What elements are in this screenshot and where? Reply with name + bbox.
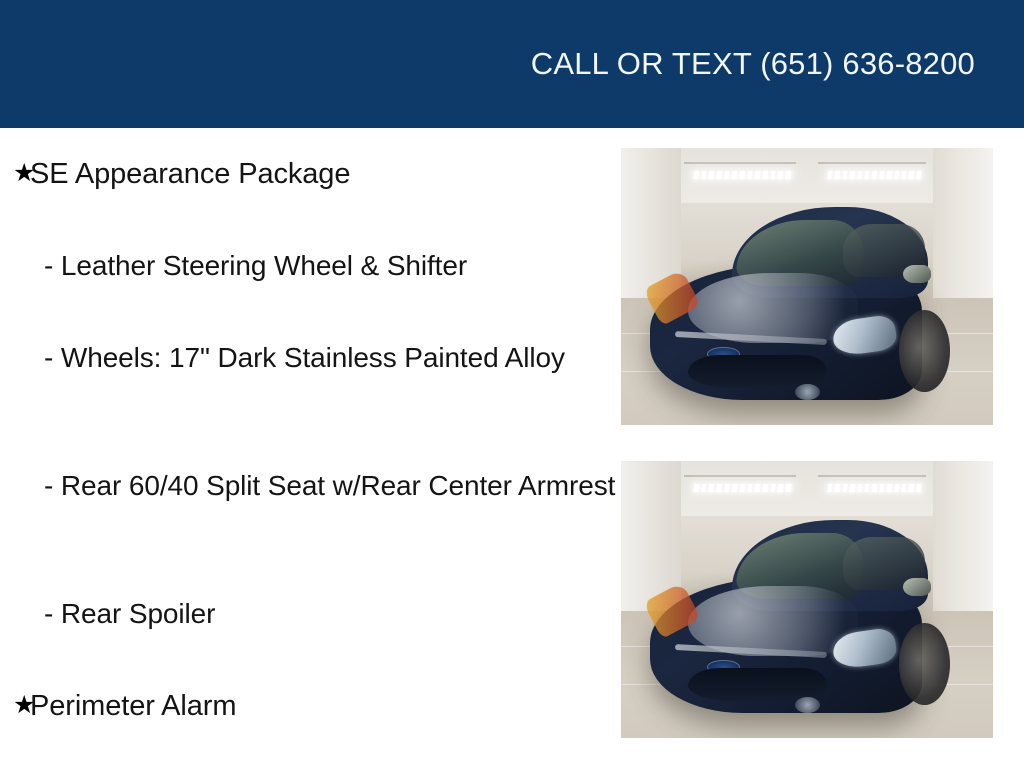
- car-illustration: [643, 516, 959, 721]
- front-grille: [688, 355, 827, 388]
- ceiling-light-icon: [825, 483, 923, 492]
- feature-label: Perimeter Alarm: [30, 688, 236, 724]
- star-bullet-icon: ★: [0, 156, 30, 190]
- star-bullet-icon: ★: [0, 688, 30, 722]
- list-item: ★ SE Appearance Package: [0, 156, 580, 192]
- front-wheel: [899, 623, 950, 705]
- side-mirror: [903, 265, 931, 283]
- slide-content: ★ SE Appearance Package - Leather Steeri…: [0, 128, 1024, 768]
- feature-list: ★ SE Appearance Package - Leather Steeri…: [0, 128, 600, 768]
- ceiling-rail: [684, 475, 796, 477]
- list-item: - Rear Spoiler: [0, 596, 624, 632]
- ceiling-rail: [818, 162, 926, 164]
- vehicle-photo-2: [621, 461, 993, 738]
- car-illustration: [643, 203, 959, 408]
- list-item: - Wheels: 17" Dark Stainless Painted All…: [0, 340, 624, 376]
- showroom-scene: [621, 461, 993, 738]
- header-bar: CALL OR TEXT (651) 636-8200: [0, 0, 1024, 128]
- ceiling-rail: [684, 162, 796, 164]
- header-phone-text: CALL OR TEXT (651) 636-8200: [531, 46, 975, 82]
- list-item: - Leather Steering Wheel & Shifter: [0, 248, 624, 284]
- feature-label: - Leather Steering Wheel & Shifter: [44, 248, 467, 284]
- ceiling-light-icon: [825, 170, 923, 179]
- vehicle-photo-1: [621, 148, 993, 425]
- showroom-scene: [621, 148, 993, 425]
- ceiling-rail: [818, 475, 926, 477]
- ceiling-light-icon: [691, 170, 793, 179]
- feature-label: - Rear 60/40 Split Seat w/Rear Center Ar…: [44, 468, 615, 504]
- feature-label: SE Appearance Package: [30, 156, 350, 192]
- feature-label: - Wheels: 17" Dark Stainless Painted All…: [44, 340, 565, 376]
- list-item: ★ Perimeter Alarm: [0, 688, 580, 724]
- side-mirror: [903, 578, 931, 596]
- front-grille: [688, 668, 827, 701]
- list-item: - Rear 60/40 Split Seat w/Rear Center Ar…: [0, 468, 624, 504]
- feature-label: - Rear Spoiler: [44, 596, 215, 632]
- front-wheel: [899, 310, 950, 392]
- ceiling-light-icon: [691, 483, 793, 492]
